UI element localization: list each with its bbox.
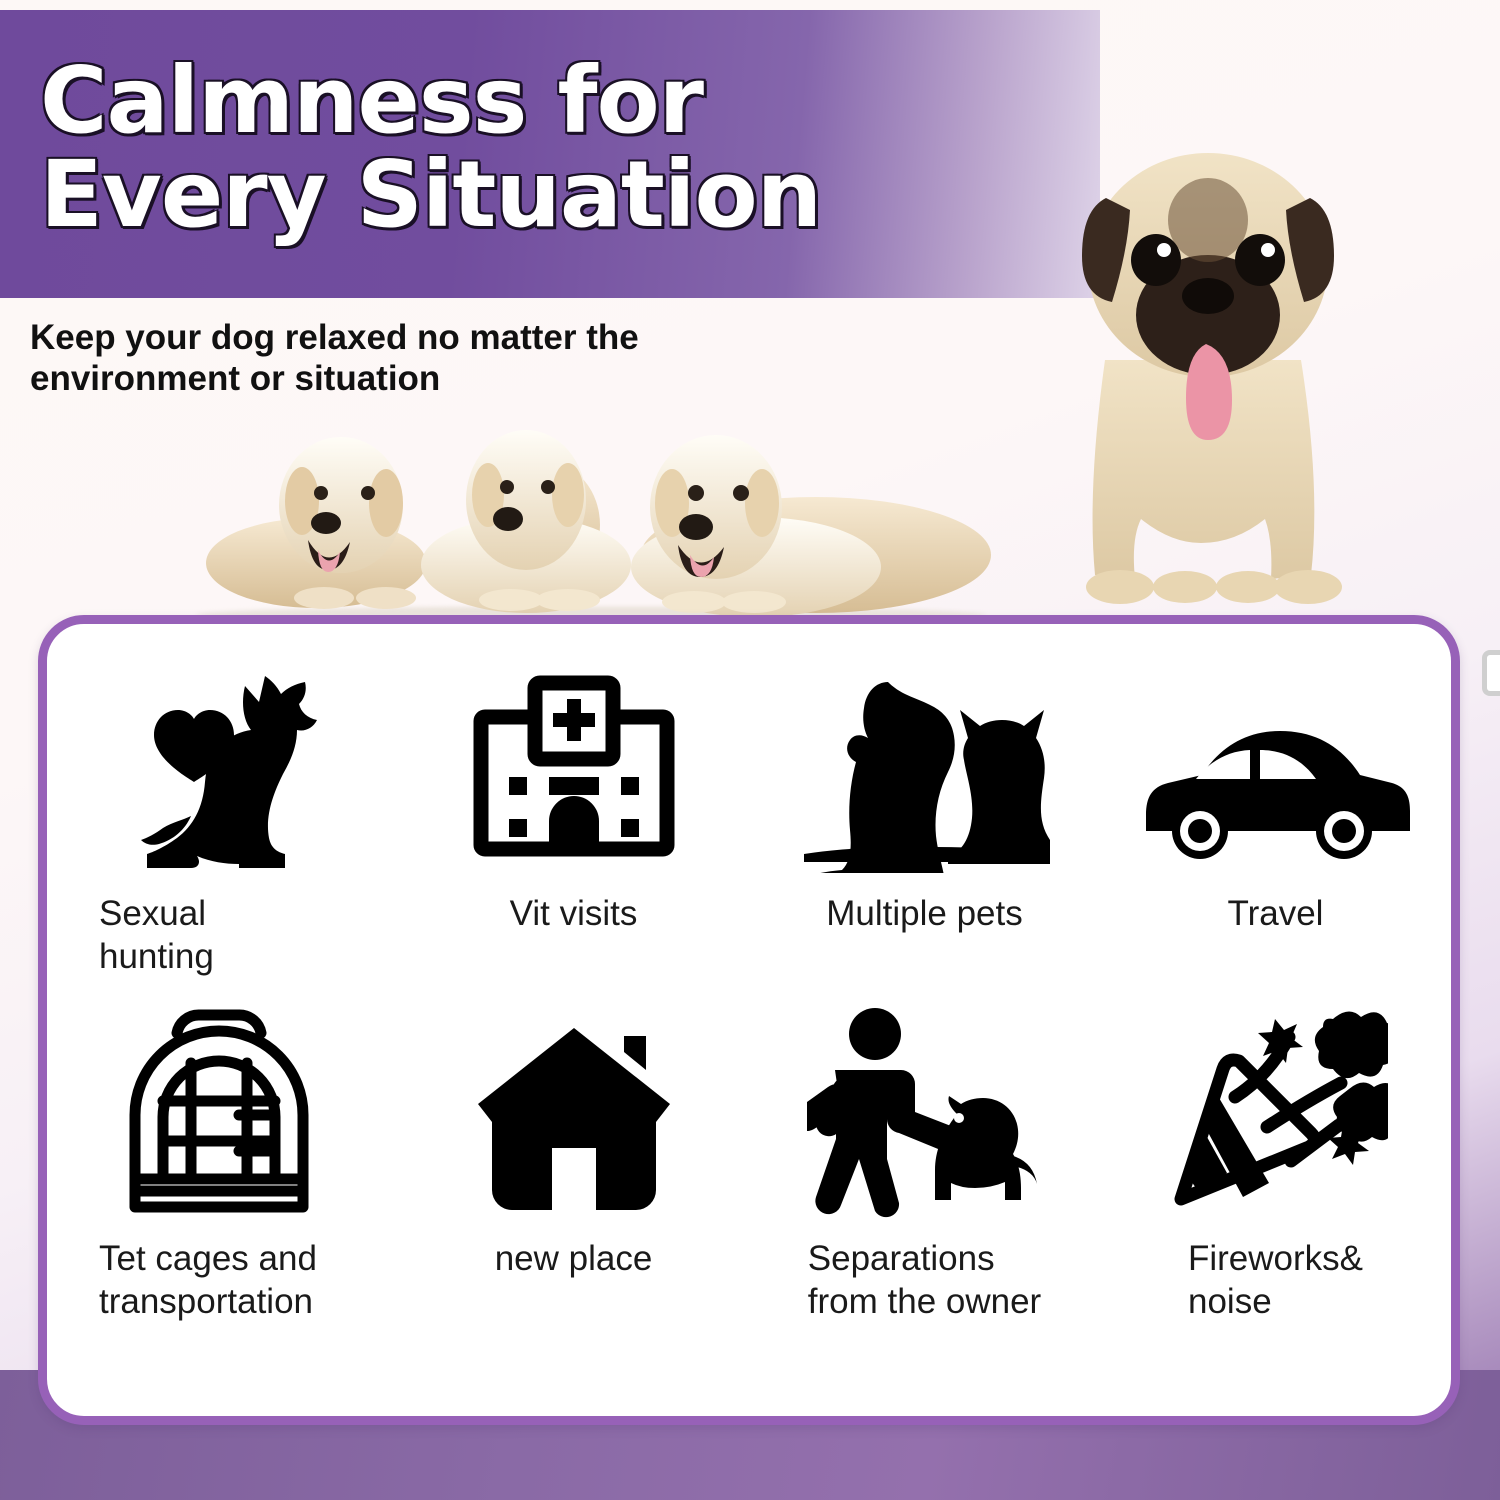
hero-banner: Calmness for Every Situation (0, 10, 1100, 298)
situations-grid: Sexual hunting (47, 658, 1451, 1348)
car-icon (1100, 658, 1451, 873)
situation-item-multiple-pets[interactable]: Multiple pets (749, 658, 1100, 1003)
situations-card: Sexual hunting (38, 615, 1460, 1425)
puppies-photo (196, 395, 996, 620)
party-popper-icon (1100, 1003, 1451, 1218)
photo-band (0, 395, 1500, 635)
subtitle-text: Keep your dog relaxed no matter the envi… (30, 318, 730, 399)
dog-and-cat-icon (749, 658, 1100, 873)
situation-item-pet-cages[interactable]: Tet cages and transportation (47, 1003, 398, 1348)
person-walking-dog-icon (749, 1003, 1100, 1218)
situation-label: Separations from the owner (808, 1238, 1041, 1323)
house-icon (398, 1003, 749, 1218)
situation-item-travel[interactable]: Travel (1100, 658, 1451, 1003)
situation-label: new place (495, 1238, 653, 1281)
situation-label: Fireworks& noise (1188, 1238, 1363, 1323)
veterinary-hospital-icon (398, 658, 749, 873)
pet-carrier-cage-icon (47, 1003, 398, 1218)
situation-label: Vit visits (510, 893, 638, 936)
pug-photo (1010, 100, 1380, 620)
situation-item-fireworks[interactable]: Fireworks& noise (1100, 1003, 1451, 1348)
poster-root: Calmness for Every Situation Keep your d… (0, 0, 1500, 1500)
page-title: Calmness for Every Situation (40, 54, 1050, 242)
dog-with-heart-icon (47, 658, 398, 873)
situation-label: Tet cages and transportation (99, 1238, 317, 1323)
situation-item-separations[interactable]: Separations from the owner (749, 1003, 1100, 1348)
right-edge-fragment (1482, 650, 1500, 696)
situation-item-vit-visits[interactable]: Vit visits (398, 658, 749, 1003)
situation-label: Sexual hunting (99, 893, 214, 978)
situation-item-sexual-hunting[interactable]: Sexual hunting (47, 658, 398, 1003)
situation-label: Multiple pets (826, 893, 1022, 936)
situation-label: Travel (1228, 893, 1324, 936)
situation-item-new-place[interactable]: new place (398, 1003, 749, 1348)
